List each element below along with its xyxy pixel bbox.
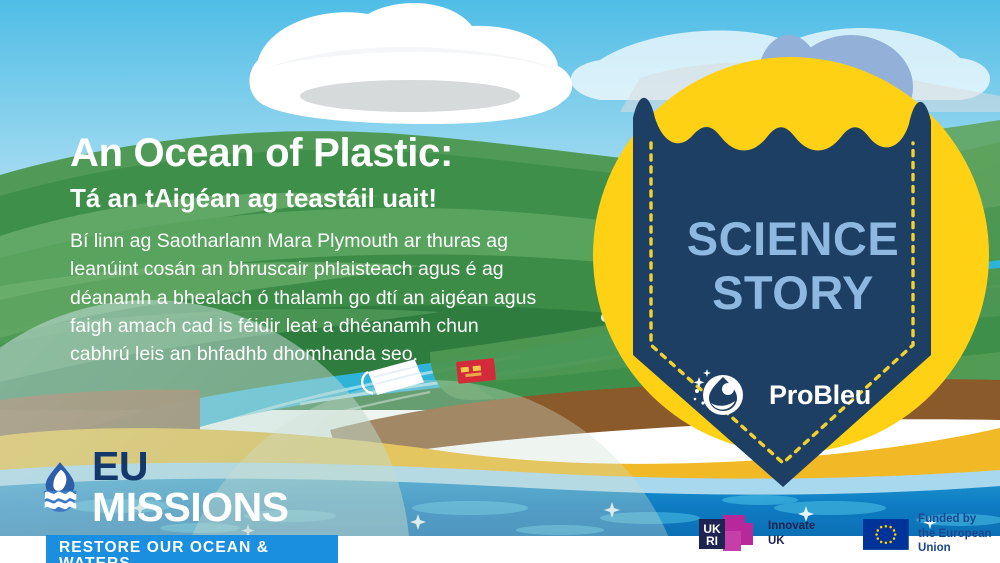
innovate-uk-line2: UK bbox=[768, 534, 815, 549]
ukri-icon: UK RI bbox=[697, 513, 759, 555]
page-title: An Ocean of Plastic: bbox=[70, 132, 570, 174]
poster-root: An Ocean of Plastic: Tá an tAigéan ag te… bbox=[0, 0, 1000, 563]
innovate-uk-line1: Innovate bbox=[768, 519, 815, 534]
science-story-badge: SCIENCE STORY ProBleu bbox=[593, 25, 993, 495]
funder-logos: UK RI Innovate UK bbox=[697, 512, 1000, 556]
text-column: An Ocean of Plastic: Tá an tAigéan ag te… bbox=[70, 132, 570, 368]
badge-banner bbox=[633, 98, 931, 487]
eu-funding-line2: the European Union bbox=[918, 527, 1000, 556]
body-paragraph: Bí linn ag Saotharlann Mara Plymouth ar … bbox=[70, 227, 540, 368]
eu-funding-logo: Funded by the European Union bbox=[863, 512, 1000, 556]
ukri-innovate-uk-logo: UK RI Innovate UK bbox=[697, 513, 815, 555]
eu-missions-word: MISSIONS bbox=[92, 484, 288, 530]
page-subtitle: Tá an tAigéan ag teastáil uait! bbox=[70, 184, 570, 213]
badge-graphic bbox=[593, 25, 993, 495]
eu-funding-line1: Funded by bbox=[918, 512, 1000, 527]
eu-missions-eu: EU bbox=[92, 443, 148, 489]
ukri-mark-line2: RI bbox=[706, 534, 718, 548]
eu-missions-logo: EU MISSIONS RESTORE OUR OCEAN & WATERS bbox=[38, 446, 338, 563]
eu-flag-icon bbox=[863, 514, 909, 555]
eu-missions-tagline: RESTORE OUR OCEAN & WATERS bbox=[46, 535, 338, 563]
water-droplet-icon bbox=[38, 459, 82, 515]
